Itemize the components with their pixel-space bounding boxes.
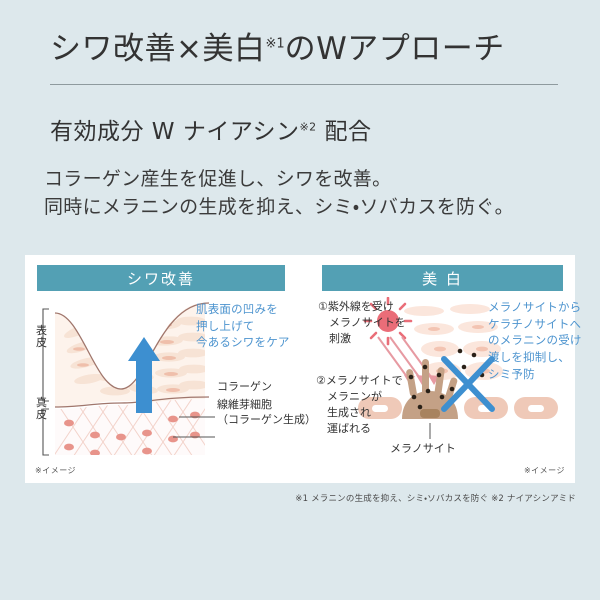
page-title-main: シワ改善×美白 xyxy=(50,31,265,67)
subtitle: 有効成分 W ナイアシン※2 配合 xyxy=(50,112,371,146)
whitening-benefit-note: メラノサイトから ケラチノサイトへ のメラニンの受け 渡しを抑制し、 シミ予防 xyxy=(488,299,582,382)
whitening-step-2-line-2: メラニンが xyxy=(316,389,403,405)
title-block: シワ改善×美白※1のWアプローチ xyxy=(50,30,560,69)
whitening-step-2: ②メラノサイトで メラニンが 生成され 運ばれる xyxy=(316,373,403,437)
label-fibroblast-line-1: 線維芽細胞 xyxy=(217,398,316,413)
lead-line-1: コラーゲン産生を促進し、シワを改善。 xyxy=(44,166,514,194)
whitening-step-2-line-3: 生成され xyxy=(316,405,403,421)
subtitle-tail: 配合 xyxy=(317,119,372,145)
whitening-step-1: ①紫外線を受け メラノサイトを 刺激 xyxy=(318,299,406,347)
lead-paragraph: コラーゲン産生を促進し、シワを改善。 同時にメラニンの生成を抑え、シミ・ソバカス… xyxy=(44,166,514,221)
skin-cross-section-illustration xyxy=(33,297,223,462)
wrinkle-benefit-line-3: 今あるシワをケア xyxy=(196,334,290,351)
diagram-card: シワ改善 xyxy=(25,255,575,483)
label-melanocyte: メラノサイト xyxy=(390,440,456,456)
image-disclaimer-left: ※イメージ xyxy=(35,465,76,476)
subtitle-footnote-mark: ※2 xyxy=(299,120,316,133)
wrinkle-benefit-note: 肌表面の凹みを 押し上げて 今あるシワをケア xyxy=(196,301,290,351)
wrinkle-benefit-line-1: 肌表面の凹みを xyxy=(196,301,290,318)
panel-whitening: 美 白 xyxy=(310,255,575,483)
whitening-step-2-line-1: ②メラノサイトで xyxy=(316,373,403,389)
label-fibroblast: 線維芽細胞 （コラーゲン生成） xyxy=(217,398,316,428)
footnote: ※1 メラニンの生成を抑え、シミ・ソバカスを防ぐ ※2 ナイアシンアミド xyxy=(295,492,576,504)
panel-left-heading: シワ改善 xyxy=(37,265,285,291)
whitening-benefit-line-1: メラノサイトから xyxy=(488,299,582,316)
wrinkle-benefit-line-2: 押し上げて xyxy=(196,318,290,335)
whitening-step-1-line-1: ①紫外線を受け xyxy=(318,299,406,315)
whitening-step-1-line-2: メラノサイトを xyxy=(318,315,406,331)
whitening-step-1-line-3: 刺激 xyxy=(318,331,406,347)
page-title-tail: のWアプローチ xyxy=(285,31,505,67)
lead-line-2: 同時にメラニンの生成を抑え、シミ・ソバカスを防ぐ。 xyxy=(44,194,514,222)
label-epidermis: 表皮 xyxy=(35,325,48,348)
whitening-benefit-line-2: ケラチノサイトへ xyxy=(488,316,582,333)
label-fibroblast-line-2: （コラーゲン生成） xyxy=(217,413,316,428)
image-disclaimer-right: ※イメージ xyxy=(524,465,565,476)
subtitle-main: 有効成分 W ナイアシン xyxy=(50,119,299,145)
label-dermis: 真皮 xyxy=(35,397,48,420)
whitening-step-2-line-4: 運ばれる xyxy=(316,421,403,437)
panel-right-heading: 美 白 xyxy=(322,265,563,291)
infographic-page: シワ改善×美白※1のWアプローチ 有効成分 W ナイアシン※2 配合 コラーゲン… xyxy=(0,0,600,600)
title-underline xyxy=(50,84,558,85)
page-title-footnote-mark: ※1 xyxy=(265,37,284,52)
whitening-benefit-line-5: シミ予防 xyxy=(488,366,582,383)
whitening-benefit-line-3: のメラニンの受け xyxy=(488,332,582,349)
panel-wrinkle-care: シワ改善 xyxy=(25,255,297,483)
whitening-benefit-line-4: 渡しを抑制し、 xyxy=(488,349,582,366)
page-title: シワ改善×美白※1のWアプローチ xyxy=(50,30,560,69)
label-collagen: コラーゲン xyxy=(217,380,272,395)
